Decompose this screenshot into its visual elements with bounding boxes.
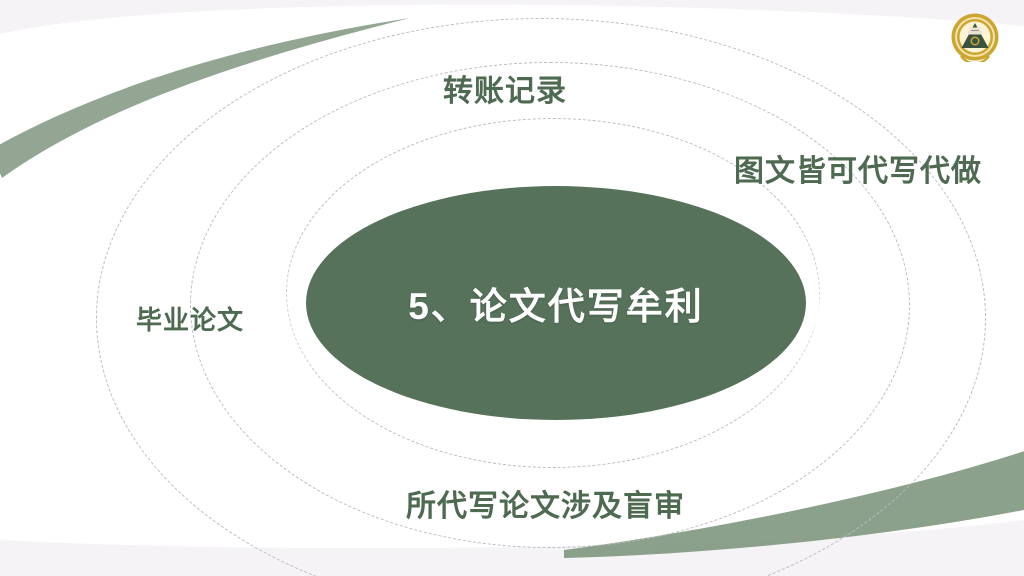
center-ellipse: 5、论文代写牟利: [306, 186, 806, 420]
label-blind-review: 所代写论文涉及盲审: [406, 481, 685, 525]
label-text-and-image: 图文皆可代写代做: [734, 146, 982, 190]
label-graduation-thesis: 毕业论文: [136, 300, 244, 337]
label-transfer-records: 转账记录: [443, 66, 567, 110]
procuratorate-emblem-icon: [950, 12, 1000, 62]
center-title: 5、论文代写牟利: [408, 276, 704, 330]
slide-canvas: 5、论文代写牟利 转账记录 图文皆可代写代做 毕业论文 所代写论文涉及盲审: [0, 0, 1024, 576]
